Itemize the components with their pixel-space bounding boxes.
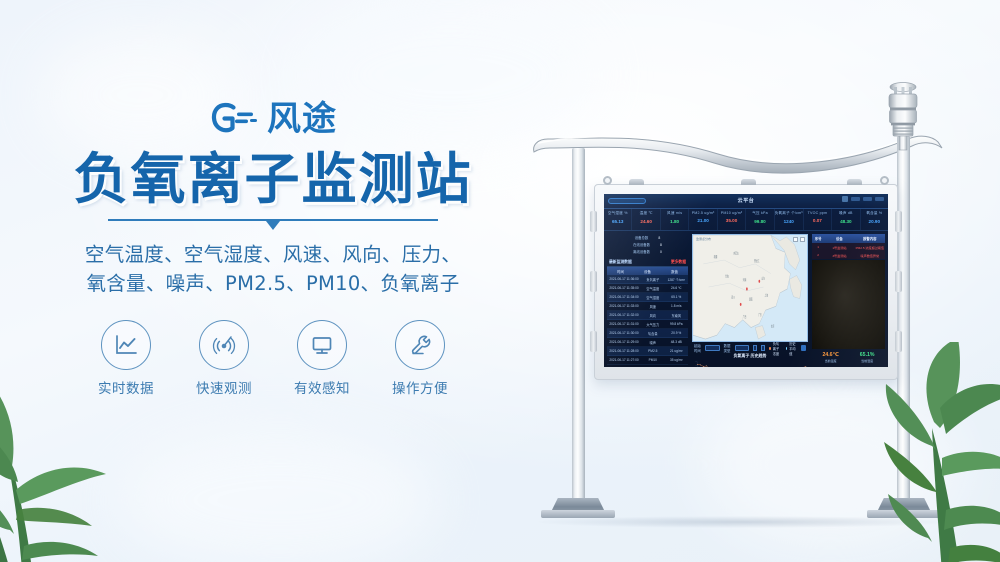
kpi-item: 负氧离子 个/cm³1240 — [775, 209, 804, 230]
kpi-value: 1.80 — [661, 219, 688, 224]
alarm-row[interactable]: 11号监测站PM2.5 浓度超过阈值 — [812, 243, 885, 251]
table-cell: 2021-06-17 11:29:00 — [607, 340, 641, 344]
status-badge — [608, 198, 646, 204]
table-column-header: 时间 — [607, 269, 634, 274]
table-cell: PM2.5 — [641, 349, 664, 353]
kpi-value: 21.00 — [689, 218, 716, 223]
kpi-value: 99.80 — [746, 219, 773, 224]
device-stat-label: 在线设备数 — [633, 242, 650, 247]
table-cell: 噪声 — [641, 340, 664, 345]
kpi-label: 噪声 dB — [832, 211, 859, 216]
device-stat-value: 8 — [660, 243, 662, 247]
alarm-cell: 1 — [812, 245, 824, 249]
table-row[interactable]: 2021-06-17 11:35:00空气温度24.6 ℃ — [607, 284, 688, 293]
chart-data-point — [806, 366, 807, 367]
feature-label: 操作方便 — [387, 377, 453, 397]
divider — [108, 219, 438, 231]
kpi-label: PM10 ug/m³ — [718, 211, 745, 215]
kpi-value: 48.30 — [832, 219, 859, 224]
wind-g-logo-icon — [209, 102, 259, 136]
ultrasonic-weather-sensor-icon — [880, 78, 926, 152]
table-cell: 24.6 ℃ — [665, 286, 688, 290]
marketing-text-panel: 风途 负氧离子监测站 空气温度、空气湿度、风速、风向、压力、 氧含量、噪声、PM… — [0, 96, 546, 397]
kpi-item: 气压 kPa99.80 — [746, 209, 774, 230]
support-post-icon — [897, 136, 910, 502]
gauge-row: 24.6℃当前温度65.1%当前湿度 — [812, 349, 885, 365]
dashboard-header: 云平台 — [604, 194, 888, 209]
table-row[interactable]: 2021-06-17 11:33:00风速1.8 m/s — [607, 302, 688, 311]
table-cell: 2021-06-17 11:33:00 — [607, 304, 641, 308]
chart-y-tick: 8 — [696, 361, 697, 363]
table-section-title: 最新监测数据 — [609, 260, 632, 265]
hinge-icon — [590, 271, 597, 292]
alarm-row[interactable]: 23号监测站噪声数值异常 — [812, 251, 885, 259]
date-filter-select[interactable] — [705, 345, 720, 351]
table-cell: 35 ug/m³ — [665, 358, 688, 362]
device-stat-row: 离线设备数0 — [607, 248, 688, 255]
kpi-label: 温度 ℃ — [632, 211, 659, 216]
svg-text:湖南: 湖南 — [749, 297, 753, 302]
dashboard-center-column: 新疆内蒙古 黑龙江青海 河南山东 四川湖南 上海广西 广东台湾 — [690, 231, 810, 367]
device-stat-row: 设备总数8 — [607, 234, 688, 241]
kpi-item: 噪声 dB48.30 — [832, 209, 860, 230]
dashboard-title: 云平台 — [738, 197, 755, 204]
toolbar-icon[interactable] — [842, 196, 848, 202]
svg-text:河南: 河南 — [743, 278, 747, 283]
table-row[interactable]: 2021-06-17 11:28:00PM2.521 ug/m³ — [607, 347, 688, 356]
alarm-cell: 3号监测站 — [824, 253, 854, 258]
table-cell: 20.9 % — [665, 331, 688, 335]
subtitle-line-1: 空气温度、空气湿度、风速、风向、压力、 — [0, 241, 546, 269]
station-map[interactable]: 新疆内蒙古 黑龙江青海 河南山东 四川湖南 上海广西 广东台湾 — [692, 234, 808, 342]
page-title: 负氧离子监测站 — [0, 150, 546, 209]
device-stat-row: 在线设备数8 — [607, 241, 688, 248]
subtitle-line-2: 氧含量、噪声、PM2.5、PM10、负氧离子 — [0, 270, 546, 298]
table-cell: 2021-06-17 11:32:00 — [607, 313, 641, 317]
plus-icon[interactable] — [793, 237, 798, 242]
hinge-icon — [590, 331, 597, 352]
chart-title: 负氧离子 历史趋势 — [733, 353, 766, 359]
table-row[interactable]: 2021-06-17 11:30:00氧含量20.9 % — [607, 329, 688, 338]
kpi-value: 1240 — [775, 219, 803, 224]
chart-data-point — [703, 366, 704, 367]
hinge-icon — [895, 331, 902, 352]
kpi-item: 温度 ℃24.60 — [632, 209, 660, 230]
brand-name: 风途 — [267, 102, 337, 136]
device-stat-label: 离线设备数 — [633, 249, 650, 254]
kpi-label: 氧含量 % — [861, 211, 888, 216]
line-chart-icon — [101, 320, 151, 370]
alarm-cell: 2 — [812, 253, 824, 257]
table-row[interactable]: 2021-06-17 11:36:00负氧离子1287 个/cm³ — [607, 275, 688, 284]
alarm-cell: 噪声数值异常 — [855, 253, 885, 258]
kpi-value: 0.07 — [804, 218, 831, 223]
toolbar-icon[interactable] — [851, 197, 860, 201]
alarm-column-header: 序号 — [812, 236, 824, 241]
table-cell: 空气温度 — [641, 286, 664, 291]
table-cell: 2021-06-17 11:28:00 — [607, 349, 641, 353]
radar-signal-icon — [199, 320, 249, 370]
legend-swatch — [786, 347, 787, 350]
table-cell: 空气湿度 — [641, 295, 664, 300]
hinge-icon — [895, 211, 902, 232]
kpi-label: 负氧离子 个/cm³ — [775, 211, 803, 216]
mount-lug-icon — [847, 179, 862, 185]
support-post-icon — [572, 148, 585, 502]
feature-item-effective-sensing[interactable]: 有效感知 — [289, 320, 355, 397]
svg-text:山东: 山东 — [761, 276, 765, 281]
mount-lug-icon — [741, 179, 756, 185]
caret-down-icon — [266, 221, 280, 230]
monitor-icon — [297, 320, 347, 370]
gauge-label: 当前温度 — [822, 359, 838, 363]
dashboard-left-column: 设备总数8在线设备数8离线设备数0 最新监测数据 更多数据 时间设备数值 202… — [604, 231, 690, 367]
sensor-list-subtitle: 空气温度、空气湿度、风速、风向、压力、 氧含量、噪声、PM2.5、PM10、负氧… — [0, 241, 546, 298]
svg-text:上海: 上海 — [765, 293, 769, 298]
trend-chart: 负氧离子 历史趋势 0246806-1006-1006-1006-1006-11… — [692, 352, 808, 364]
kpi-label: 气压 kPa — [746, 211, 773, 216]
dashboard-body: 设备总数8在线设备数8离线设备数0 最新监测数据 更多数据 时间设备数值 202… — [604, 231, 888, 367]
table-cell: 1287 个/cm³ — [665, 277, 688, 282]
svg-text:黑龙江: 黑龙江 — [754, 258, 760, 263]
gauge-value: 65.1% — [860, 352, 875, 358]
camera-feed[interactable] — [812, 260, 885, 349]
device-stats: 设备总数8在线设备数8离线设备数0 — [607, 234, 688, 255]
chevron-left-icon[interactable] — [753, 345, 757, 351]
kpi-value: 20.90 — [861, 219, 888, 224]
table-column-header: 数值 — [661, 269, 688, 274]
monitoring-station-kiosk: 云平台 空气湿度 %65.13温度 ℃24.60风速 m/s1.80PM2.5 … — [528, 70, 978, 540]
kpi-item: 氧含量 %20.90 — [861, 209, 888, 230]
table-cell: 48.3 dB — [665, 340, 688, 344]
hinge-icon — [590, 211, 597, 232]
table-row[interactable]: 2021-06-17 11:34:00空气湿度65.1 % — [607, 293, 688, 302]
table-cell: 风向 — [641, 313, 664, 318]
table-cell: 2021-06-17 11:34:00 — [607, 295, 641, 299]
svg-text:台湾: 台湾 — [771, 324, 775, 329]
svg-text:新疆: 新疆 — [714, 254, 718, 259]
device-stat-value: 8 — [658, 236, 660, 240]
kpi-label: PM2.5 ug/m³ — [689, 211, 716, 215]
table-cell: PM10 — [641, 358, 664, 362]
chart-series-line — [697, 364, 806, 367]
chevron-right-icon[interactable] — [761, 345, 765, 351]
chart-data-point — [706, 366, 707, 367]
kpi-value: 35.00 — [718, 218, 745, 223]
feature-item-fast-observation[interactable]: 快速观测 — [191, 320, 257, 397]
table-cell: 氧含量 — [641, 331, 664, 336]
feature-label: 实时数据 — [93, 377, 159, 397]
wrench-icon — [395, 320, 445, 370]
svg-text:四川: 四川 — [731, 295, 735, 300]
feature-item-realtime-data[interactable]: 实时数据 — [93, 320, 159, 397]
brand-lockup: 风途 — [0, 96, 546, 142]
ground-shadow — [538, 516, 948, 528]
alarm-column-header: 报警内容 — [855, 236, 885, 241]
gauge-value: 24.6℃ — [822, 352, 838, 358]
chart-y-tick: 6 — [696, 365, 697, 367]
kpi-item: PM10 ug/m³35.00 — [718, 209, 746, 230]
table-cell: 65.1 % — [665, 295, 688, 299]
chart-data-point — [700, 364, 701, 365]
gauge-label: 当前湿度 — [860, 359, 875, 363]
table-section-header: 最新监测数据 更多数据 — [607, 259, 688, 267]
svg-text:内蒙古: 内蒙古 — [733, 251, 739, 256]
kpi-label: TVOC ppm — [804, 211, 831, 215]
chart-toolbar[interactable]: 起始时间 数据类型 负氧离子浓度 — [692, 342, 808, 352]
kpi-value: 65.13 — [604, 219, 631, 224]
table-cell: 负氧离子 — [641, 277, 664, 282]
gauge: 65.1%当前湿度 — [860, 352, 875, 363]
kpi-item: TVOC ppm0.07 — [804, 209, 832, 230]
table-row[interactable]: 2021-06-17 11:31:00大气压力99.8 kPa — [607, 320, 688, 329]
chart-axes — [697, 362, 806, 367]
table-cell: 大气压力 — [641, 322, 664, 327]
display-enclosure-icon: 云平台 空气湿度 %65.13温度 ℃24.60风速 m/s1.80PM2.5 … — [594, 184, 898, 380]
table-cell: 2021-06-17 11:31:00 — [607, 322, 641, 326]
map-label: 监测点分布 — [696, 237, 711, 241]
feature-label: 有效感知 — [289, 377, 355, 397]
svg-text:广西: 广西 — [743, 314, 747, 319]
query-button[interactable] — [801, 345, 806, 351]
kpi-item: 空气湿度 %65.13 — [604, 209, 632, 230]
svg-text:广东: 广东 — [758, 312, 762, 317]
svg-text:青海: 青海 — [725, 274, 729, 279]
device-stat-label: 设备总数 — [635, 235, 649, 240]
table-row[interactable]: 2021-06-17 11:29:00噪声48.3 dB — [607, 338, 688, 347]
kpi-value: 24.60 — [632, 219, 659, 224]
alarm-cell: 1号监测站 — [824, 245, 854, 250]
table-cell: 风速 — [641, 304, 664, 309]
table-cell: 2021-06-17 11:35:00 — [607, 286, 641, 290]
toolbar-icon[interactable] — [863, 197, 872, 201]
eyelet-icon — [880, 176, 889, 185]
alarm-cell: PM2.5 浓度超过阈值 — [855, 245, 885, 250]
chart-data-point — [697, 364, 698, 365]
table-row[interactable]: 2021-06-17 11:27:00PM1035 ug/m³ — [607, 356, 688, 365]
legend-swatch — [769, 347, 770, 350]
table-cell: 21 ug/m³ — [665, 349, 688, 353]
device-stat-value: 0 — [660, 250, 662, 254]
kpi-strip: 空气湿度 %65.13温度 ℃24.60风速 m/s1.80PM2.5 ug/m… — [604, 209, 888, 231]
table-cell: 2021-06-17 11:36:00 — [607, 277, 641, 281]
dashboard-toolbar[interactable] — [842, 196, 884, 202]
more-data-link[interactable]: 更多数据 — [671, 260, 686, 265]
alarm-column-headers: 序号设备报警内容 — [812, 234, 885, 243]
kpi-label: 风速 m/s — [661, 211, 688, 216]
data-table-body[interactable]: 2021-06-17 11:36:00负氧离子1287 个/cm³2021-06… — [607, 275, 688, 365]
kpi-item: PM2.5 ug/m³21.00 — [689, 209, 717, 230]
minus-icon[interactable] — [800, 237, 805, 242]
feature-list: 实时数据 快速观测 — [0, 320, 546, 397]
feature-item-easy-operation[interactable]: 操作方便 — [387, 320, 453, 397]
dashboard-screen[interactable]: 云平台 空气湿度 %65.13温度 ℃24.60风速 m/s1.80PM2.5 … — [604, 194, 888, 367]
table-cell: 东南风 — [665, 313, 688, 318]
map-graphic: 新疆内蒙古 黑龙江青海 河南山东 四川湖南 上海广西 广东台湾 — [693, 235, 807, 341]
table-cell: 2021-06-17 11:30:00 — [607, 331, 641, 335]
poster-root: 风途 负氧离子监测站 空气温度、空气湿度、风速、风向、压力、 氧含量、噪声、PM… — [0, 0, 1000, 562]
toolbar-icon[interactable] — [875, 197, 884, 201]
type-filter-select[interactable] — [735, 345, 750, 351]
mount-lug-icon — [629, 179, 644, 185]
table-column-header: 设备 — [634, 269, 661, 274]
alarm-list[interactable]: 11号监测站PM2.5 浓度超过阈值23号监测站噪声数值异常 — [812, 243, 885, 259]
table-row[interactable]: 2021-06-17 11:32:00风向东南风 — [607, 311, 688, 320]
chart-plot: 0246806-1006-1006-1006-1006-1106-1106-11… — [692, 360, 808, 367]
dashboard-right-column: 序号设备报警内容 11号监测站PM2.5 浓度超过阈值23号监测站噪声数值异常 … — [810, 231, 888, 367]
table-column-headers: 时间设备数值 — [607, 267, 688, 275]
alarm-column-header: 设备 — [824, 236, 854, 241]
table-cell: 1.8 m/s — [665, 304, 688, 308]
feature-label: 快速观测 — [191, 377, 257, 397]
kpi-label: 空气湿度 % — [604, 211, 631, 216]
table-cell: 2021-06-17 11:27:00 — [607, 358, 641, 362]
eyelet-icon — [603, 176, 612, 185]
kpi-item: 风速 m/s1.80 — [661, 209, 689, 230]
table-cell: 99.8 kPa — [665, 322, 688, 326]
background-blob — [120, 430, 440, 562]
gauge: 24.6℃当前温度 — [822, 352, 838, 363]
hinge-icon — [895, 271, 902, 292]
